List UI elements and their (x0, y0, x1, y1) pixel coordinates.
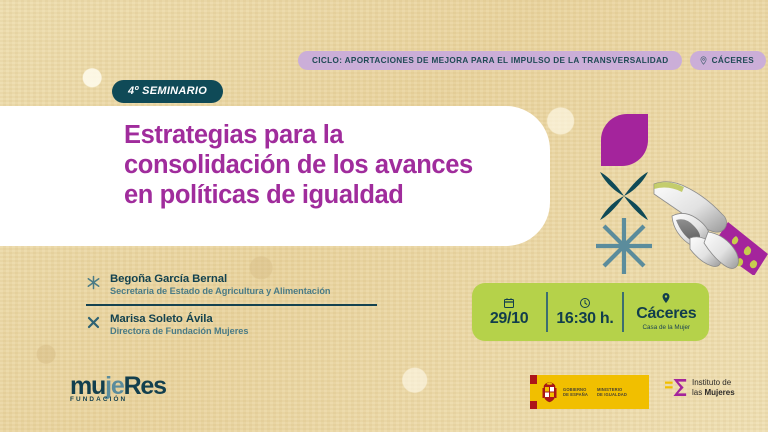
instituto-logo-text: Instituto de las Mujeres (692, 378, 735, 398)
speaker-name: Begoña García Bernal (110, 272, 330, 286)
speakers-divider (86, 304, 377, 306)
calendar-icon (503, 297, 515, 309)
title-line-1: Estrategias para la (124, 121, 544, 151)
list-item: Begoña García Bernal Secretaria de Estad… (86, 268, 386, 303)
seminar-badge: 4º SEMINARIO (112, 80, 223, 103)
speaker-role: Secretaria de Estado de Agricultura y Al… (110, 286, 330, 298)
instituto-de-las-mujeres-logo: Instituto de las Mujeres (665, 378, 735, 398)
seminar-badge-label: 4º SEMINARIO (128, 85, 207, 97)
event-venue-cell: Cáceres Casa de la Mujer (624, 292, 709, 331)
instituto-line-2: las Mujeres (692, 388, 735, 398)
cycle-pill-label: CICLO: APORTACIONES DE MEJORA PARA EL IM… (312, 56, 669, 65)
location-pin-icon (660, 292, 672, 304)
event-time: 16:30 h. (556, 311, 613, 327)
clock-icon (579, 297, 591, 309)
eight-point-asterisk-icon (594, 216, 654, 276)
speaker-role: Directora de Fundación Mujeres (110, 326, 248, 338)
gobierno-de-espana-logo: GOBIERNO DE ESPAÑA MINISTERIO DE IGUALDA… (530, 375, 649, 409)
divider (546, 292, 548, 332)
wordmark-part-3: Res (124, 372, 166, 400)
top-pill-row: CICLO: APORTACIONES DE MEJORA PARA EL IM… (298, 51, 766, 70)
city-pill: CÁCERES (690, 51, 766, 70)
speaker-name: Marisa Soleto Ávila (110, 312, 248, 326)
cycle-pill: CICLO: APORTACIONES DE MEJORA PARA EL IM… (298, 51, 682, 70)
fundacion-mujeres-logo: mujeRes FUNDACIÓN (70, 374, 166, 403)
divider (622, 292, 624, 332)
event-venue-place: Casa de la Mujer (643, 325, 691, 331)
event-venue-city: Cáceres (636, 306, 696, 322)
title-line-3: en políticas de igualdad (124, 181, 544, 211)
x-mark-icon (86, 315, 101, 330)
gobierno-logo-text: GOBIERNO DE ESPAÑA MINISTERIO DE IGUALDA… (563, 387, 627, 398)
event-info-box: 29/10 16:30 h. Cáceres Casa de la Mujer (472, 283, 709, 341)
spanish-flag-bar-icon (530, 375, 537, 409)
event-time-cell: 16:30 h. (548, 297, 622, 327)
coat-of-arms-icon (541, 382, 558, 403)
event-poster: CICLO: APORTACIONES DE MEJORA PARA EL IM… (0, 0, 768, 432)
gobierno-line-2: DE ESPAÑA (563, 392, 588, 397)
event-date: 29/10 (490, 311, 529, 327)
pointing-hand-icon (650, 150, 768, 275)
gobierno-logo-plate: GOBIERNO DE ESPAÑA MINISTERIO DE IGUALDA… (537, 375, 649, 409)
leaf-shape-icon (601, 114, 648, 166)
asterisk-icon (86, 275, 101, 290)
ministerio-line-2: DE IGUALDAD (597, 392, 627, 397)
page-title: Estrategias para la consolidación de los… (124, 121, 544, 210)
city-pill-label: CÁCERES (712, 56, 754, 65)
speakers-list: Begoña García Bernal Secretaria de Estad… (86, 268, 386, 343)
instituto-line-2-light: las (692, 388, 704, 397)
title-line-2: consolidación de los avances (124, 151, 544, 181)
instituto-line-2-bold: Mujeres (704, 388, 734, 397)
instituto-line-1: Instituto de (692, 378, 735, 388)
instituto-sigma-mark-icon (665, 378, 687, 397)
event-date-cell: 29/10 (472, 297, 546, 327)
location-pin-icon (699, 56, 708, 65)
list-item: Marisa Soleto Ávila Directora de Fundaci… (86, 308, 386, 343)
